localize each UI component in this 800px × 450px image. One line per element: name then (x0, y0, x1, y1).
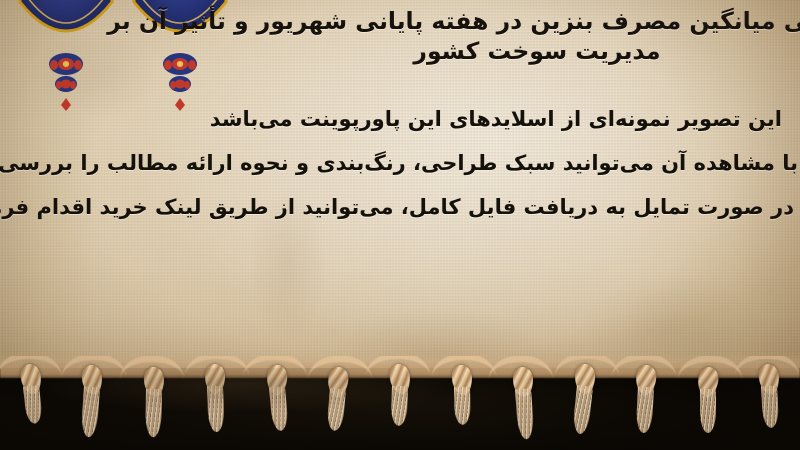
carpet-fringe-row (0, 356, 800, 450)
slide-title: یابی میانگین مصرف بنزین در هفته پایانی ش… (114, 6, 800, 66)
carpet-fringe-tassel (565, 356, 605, 448)
carpet-fringe-tassel (380, 356, 420, 448)
fringe-strand (454, 387, 471, 425)
slide-body: این تصویر نمونه‌ای از اسلایدهای این پاور… (0, 105, 800, 219)
fringe-strand (700, 389, 716, 433)
fringe-strand (515, 388, 534, 439)
slide-title-line-2: مدیریت سوخت کشور (114, 36, 800, 66)
carpet-fringe-tassel (749, 356, 789, 448)
carpet-fringe-tassel (626, 357, 666, 449)
fringe-strand (572, 385, 593, 435)
fringe-strand (761, 385, 779, 428)
body-line-2: با مشاهده آن می‌توانید سبک طراحی، رنگ‌بن… (0, 151, 800, 175)
carpet-fringe-tassel (318, 359, 358, 450)
carpet-fringe-tassel (134, 359, 174, 450)
fringe-strand (207, 385, 225, 432)
fringe-strand (391, 385, 408, 425)
carpet-fringe-tassel (195, 356, 235, 448)
carpet-fringe-tassel (688, 359, 728, 450)
fringe-strand (81, 386, 100, 437)
fringe-strand (269, 386, 289, 431)
body-line-1: این تصویر نمونه‌ای از اسلایدهای این پاور… (0, 107, 800, 131)
fringe-strand (145, 388, 162, 436)
body-line-3: در صورت تمایل به دریافت فایل کامل، می‌تو… (0, 195, 800, 219)
carpet-fringe-tassel (72, 357, 112, 449)
slide-title-line-1: یابی میانگین مصرف بنزین در هفته پایانی ش… (114, 6, 800, 36)
carpet-fringe-tassel (503, 359, 543, 450)
fringe-strand (23, 385, 43, 424)
fringe-strand (327, 388, 347, 431)
slide-canvas: یابی میانگین مصرف بنزین در هفته پایانی ش… (0, 0, 800, 450)
carpet-fringe-tassel (442, 357, 482, 449)
fringe-strand (636, 387, 654, 434)
carpet-fringe-tassel (257, 357, 297, 449)
carpet-fringe-tassel (11, 356, 51, 448)
persian-medallion-ornament-left (14, 0, 118, 120)
